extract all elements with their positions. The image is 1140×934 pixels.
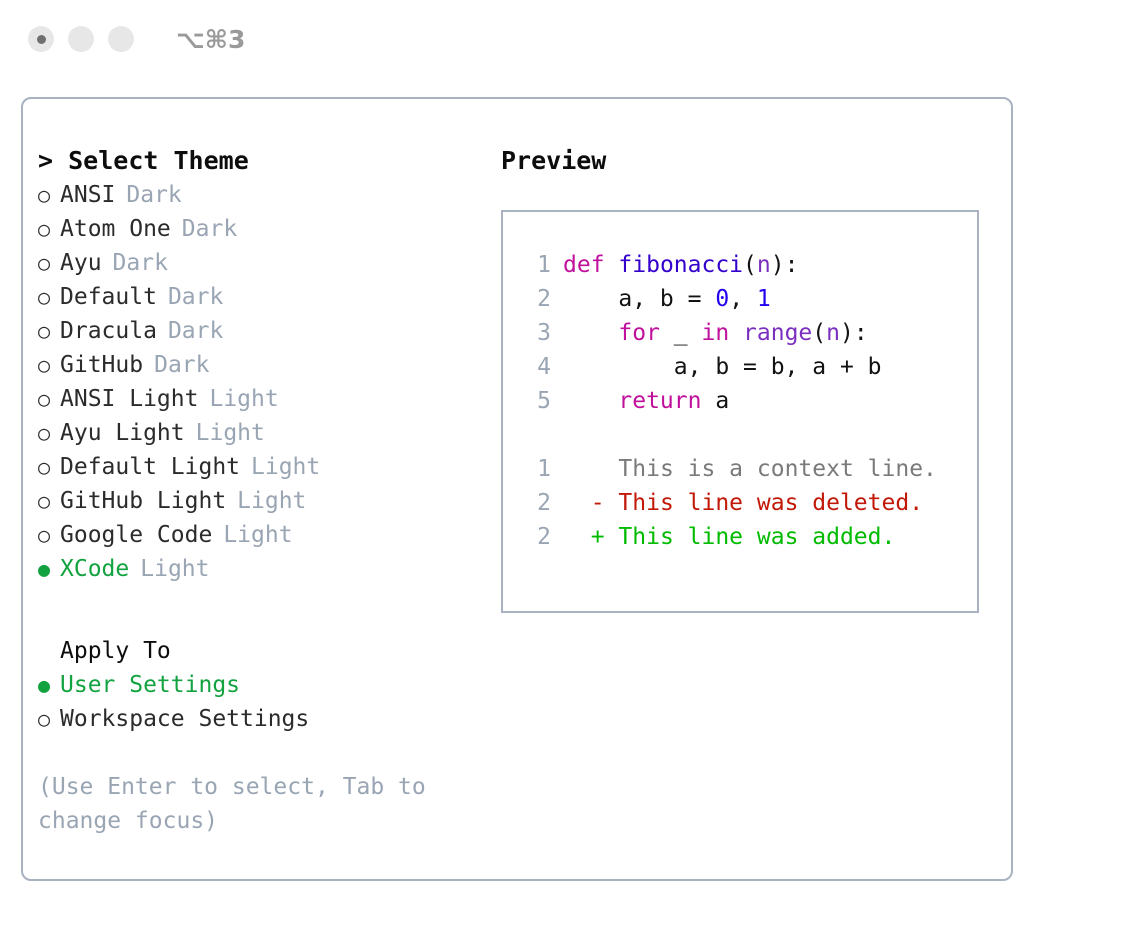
code-token-txt: ): bbox=[840, 320, 868, 346]
radio-unselected-icon: ○ bbox=[38, 484, 60, 518]
code-line: 1def fibonacci(n): bbox=[521, 248, 977, 282]
select-theme-heading-label: Select Theme bbox=[68, 146, 249, 175]
theme-variant-badge: Dark bbox=[126, 178, 181, 212]
theme-variant-badge: Light bbox=[251, 450, 320, 484]
diff-line-number: 2 bbox=[521, 486, 551, 520]
theme-option-label: ANSI Light bbox=[60, 382, 198, 416]
theme-option-label: GitHub Light bbox=[60, 484, 226, 518]
code-token-var: n bbox=[757, 252, 771, 278]
theme-variant-badge: Dark bbox=[168, 280, 223, 314]
diff-preview: 1 This is a context line.2 - This line w… bbox=[521, 452, 977, 554]
theme-option-label: Ayu bbox=[60, 246, 102, 280]
code-token-kw: def bbox=[563, 252, 605, 278]
code-line-number: 3 bbox=[521, 316, 551, 350]
code-line: 3 for _ in range(n): bbox=[521, 316, 977, 350]
window-controls bbox=[28, 26, 134, 52]
code-token-txt bbox=[729, 320, 743, 346]
code-preview: 1def fibonacci(n):2 a, b = 0, 13 for _ i… bbox=[521, 248, 977, 418]
apply-to-option-label: User Settings bbox=[60, 668, 240, 702]
keyboard-shortcut-label: ⌥⌘3 bbox=[176, 25, 245, 54]
code-token-num: 0 bbox=[715, 286, 729, 312]
theme-option-atom-one[interactable]: ○Atom OneDark bbox=[38, 212, 498, 246]
preview-box: 1def fibonacci(n):2 a, b = 0, 13 for _ i… bbox=[501, 210, 979, 613]
main-panel: > Select Theme ○ANSIDark○Atom OneDark○Ay… bbox=[21, 97, 1013, 881]
radio-unselected-icon: ○ bbox=[38, 246, 60, 280]
theme-variant-badge: Light bbox=[223, 518, 292, 552]
keyboard-hint: (Use Enter to select, Tab to change focu… bbox=[38, 770, 448, 838]
radio-unselected-icon: ○ bbox=[38, 348, 60, 382]
preview-column: Preview 1def fibonacci(n):2 a, b = 0, 13… bbox=[501, 144, 1001, 613]
theme-option-label: Google Code bbox=[60, 518, 212, 552]
radio-unselected-icon: ○ bbox=[38, 702, 60, 736]
theme-option-github-light[interactable]: ○GitHub LightLight bbox=[38, 484, 498, 518]
theme-variant-badge: Light bbox=[140, 552, 209, 586]
code-token-call: range bbox=[743, 320, 812, 346]
theme-list: ○ANSIDark○Atom OneDark○AyuDark○DefaultDa… bbox=[38, 178, 498, 586]
app-window: ⌥⌘3 > Select Theme ○ANSIDark○Atom OneDar… bbox=[0, 0, 1140, 934]
theme-option-label: Default bbox=[60, 280, 157, 314]
window-dot-active-icon[interactable] bbox=[28, 26, 54, 52]
radio-unselected-icon: ○ bbox=[38, 178, 60, 212]
code-token-txt bbox=[563, 388, 618, 414]
code-line-number: 2 bbox=[521, 282, 551, 316]
theme-option-github[interactable]: ○GitHubDark bbox=[38, 348, 498, 382]
radio-unselected-icon: ○ bbox=[38, 518, 60, 552]
apply-to-option-label: Workspace Settings bbox=[60, 702, 309, 736]
theme-option-label: Ayu Light bbox=[60, 416, 185, 450]
theme-option-google-code[interactable]: ○Google CodeLight bbox=[38, 518, 498, 552]
apply-to-list: ●User Settings○Workspace Settings bbox=[38, 668, 498, 736]
diff-line-text: This is a context line. bbox=[605, 452, 937, 486]
code-line-number: 4 bbox=[521, 350, 551, 384]
theme-option-ayu-light[interactable]: ○Ayu LightLight bbox=[38, 416, 498, 450]
code-token-txt: ( bbox=[743, 252, 757, 278]
diff-gutter-pad bbox=[563, 520, 591, 554]
theme-option-default[interactable]: ○DefaultDark bbox=[38, 280, 498, 314]
code-token-txt: a bbox=[701, 388, 729, 414]
theme-variant-badge: Dark bbox=[168, 314, 223, 348]
code-line-number: 1 bbox=[521, 248, 551, 282]
diff-marker-ctx bbox=[591, 452, 605, 486]
theme-variant-badge: Dark bbox=[113, 246, 168, 280]
apply-to-option-workspace-settings[interactable]: ○Workspace Settings bbox=[38, 702, 498, 736]
code-token-txt bbox=[563, 320, 618, 346]
theme-option-dracula[interactable]: ○DraculaDark bbox=[38, 314, 498, 348]
apply-to-section: Apply To ●User Settings○Workspace Settin… bbox=[38, 634, 498, 736]
code-line-number: 5 bbox=[521, 384, 551, 418]
diff-line-text: This line was added. bbox=[605, 520, 896, 554]
radio-unselected-icon: ○ bbox=[38, 212, 60, 246]
theme-variant-badge: Dark bbox=[154, 348, 209, 382]
code-token-fn: fibonacci bbox=[618, 252, 743, 278]
code-line: 5 return a bbox=[521, 384, 977, 418]
code-token-txt bbox=[605, 252, 619, 278]
theme-option-label: Default Light bbox=[60, 450, 240, 484]
diff-line-ctx: 1 This is a context line. bbox=[521, 452, 977, 486]
prompt-caret-icon: > bbox=[38, 146, 53, 175]
code-line-content: a, b = b, a + b bbox=[563, 350, 882, 384]
code-token-var: n bbox=[826, 320, 840, 346]
code-token-kw: in bbox=[701, 320, 729, 346]
diff-marker-add: + bbox=[591, 520, 605, 554]
theme-option-ansi-light[interactable]: ○ANSI LightLight bbox=[38, 382, 498, 416]
code-line-content: return a bbox=[563, 384, 729, 418]
theme-selector-column: > Select Theme ○ANSIDark○Atom OneDark○Ay… bbox=[38, 144, 498, 838]
radio-selected-icon: ● bbox=[38, 552, 60, 586]
diff-line-number: 2 bbox=[521, 520, 551, 554]
theme-option-label: Atom One bbox=[60, 212, 171, 246]
apply-to-heading: Apply To bbox=[38, 634, 498, 668]
theme-option-label: GitHub bbox=[60, 348, 143, 382]
radio-selected-icon: ● bbox=[38, 668, 60, 702]
window-dot-third-icon[interactable] bbox=[108, 26, 134, 52]
code-token-txt: , bbox=[729, 286, 757, 312]
code-line-content: for _ in range(n): bbox=[563, 316, 868, 350]
code-token-txt: ): bbox=[771, 252, 799, 278]
theme-option-label: XCode bbox=[60, 552, 129, 586]
code-token-kw: return bbox=[618, 388, 701, 414]
code-token-kw: for bbox=[618, 320, 660, 346]
window-dot-inner bbox=[37, 35, 46, 44]
radio-unselected-icon: ○ bbox=[38, 382, 60, 416]
theme-option-ayu[interactable]: ○AyuDark bbox=[38, 246, 498, 280]
apply-to-option-user-settings[interactable]: ●User Settings bbox=[38, 668, 498, 702]
theme-option-default-light[interactable]: ○Default LightLight bbox=[38, 450, 498, 484]
radio-unselected-icon: ○ bbox=[38, 314, 60, 348]
code-token-txt: ( bbox=[812, 320, 826, 346]
code-token-num: 1 bbox=[757, 286, 771, 312]
diff-line-del: 2 - This line was deleted. bbox=[521, 486, 977, 520]
radio-unselected-icon: ○ bbox=[38, 450, 60, 484]
radio-unselected-icon: ○ bbox=[38, 280, 60, 314]
window-dot-second-icon[interactable] bbox=[68, 26, 94, 52]
code-line: 4 a, b = b, a + b bbox=[521, 350, 977, 384]
code-token-txt: a, b = b, a + b bbox=[563, 354, 882, 380]
code-line: 2 a, b = 0, 1 bbox=[521, 282, 977, 316]
preview-heading: Preview bbox=[501, 144, 1001, 178]
diff-marker-del: - bbox=[591, 486, 605, 520]
theme-variant-badge: Light bbox=[196, 416, 265, 450]
radio-unselected-icon: ○ bbox=[38, 416, 60, 450]
code-line-content: def fibonacci(n): bbox=[563, 248, 798, 282]
theme-option-xcode[interactable]: ●XCodeLight bbox=[38, 552, 498, 586]
theme-variant-badge: Light bbox=[209, 382, 278, 416]
select-theme-heading: > Select Theme bbox=[38, 144, 498, 178]
theme-option-label: Dracula bbox=[60, 314, 157, 348]
theme-option-label: ANSI bbox=[60, 178, 115, 212]
code-token-txt: a, b = bbox=[563, 286, 715, 312]
diff-gutter-pad bbox=[563, 486, 591, 520]
diff-gutter-pad bbox=[563, 452, 591, 486]
diff-line-text: This line was deleted. bbox=[605, 486, 924, 520]
diff-line-number: 1 bbox=[521, 452, 551, 486]
theme-variant-badge: Light bbox=[237, 484, 306, 518]
diff-line-add: 2 + This line was added. bbox=[521, 520, 977, 554]
panel-columns: > Select Theme ○ANSIDark○Atom OneDark○Ay… bbox=[23, 99, 1011, 879]
code-spacer bbox=[521, 418, 977, 452]
code-token-txt: _ bbox=[660, 320, 702, 346]
theme-variant-badge: Dark bbox=[182, 212, 237, 246]
code-line-content: a, b = 0, 1 bbox=[563, 282, 771, 316]
window-titlebar: ⌥⌘3 bbox=[0, 0, 1140, 78]
theme-option-ansi[interactable]: ○ANSIDark bbox=[38, 178, 498, 212]
